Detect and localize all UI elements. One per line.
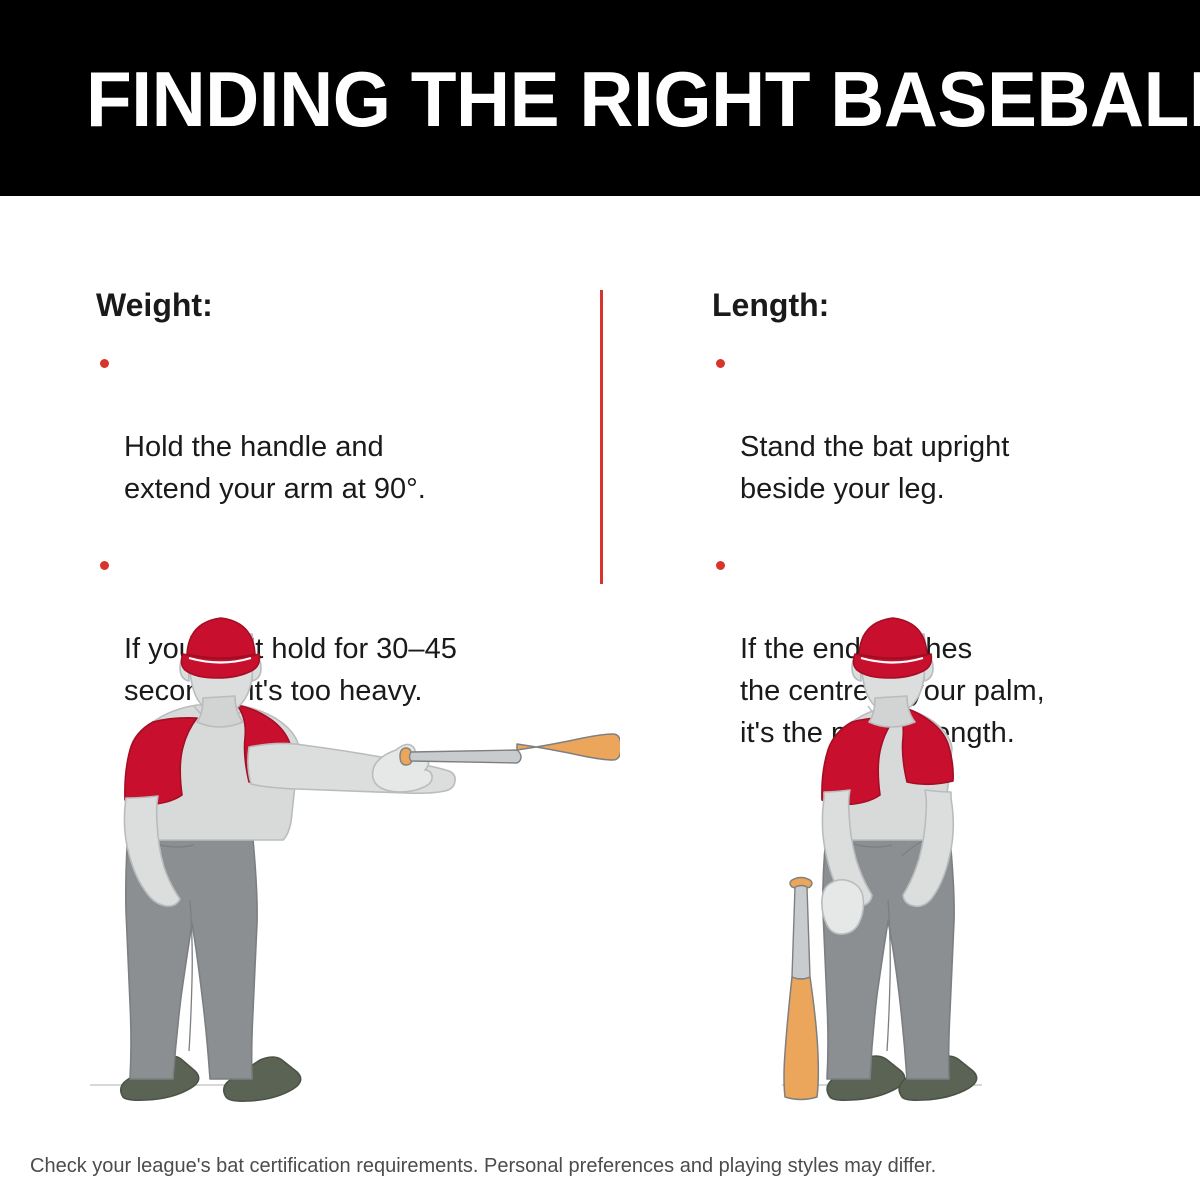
infographic-canvas: FINDING THE RIGHT BASEBALL BAT Weight: H… xyxy=(0,0,1200,1200)
bullet-text: Stand the bat upright beside your leg. xyxy=(740,431,1009,505)
bat-barrel xyxy=(784,977,818,1100)
bullet-dot-icon xyxy=(100,561,109,570)
hand-palm xyxy=(822,880,864,934)
bullet-text: Hold the handle and extend your arm at 9… xyxy=(124,431,426,505)
bat-handle xyxy=(410,750,522,763)
illustration-stage xyxy=(0,600,1200,1120)
weight-test-figure xyxy=(90,600,620,1120)
cap-crown xyxy=(859,618,927,658)
bat-handle xyxy=(792,886,810,980)
bullet-dot-icon xyxy=(716,359,725,368)
list-item: Stand the bat upright beside your leg. xyxy=(712,342,1142,510)
weight-heading: Weight: xyxy=(96,286,566,324)
bat-barrel xyxy=(517,734,620,760)
length-test-figure xyxy=(752,600,1012,1120)
footer-disclaimer: Check your league's bat certification re… xyxy=(30,1152,936,1180)
cap-crown xyxy=(187,618,255,658)
bullet-dot-icon xyxy=(716,561,725,570)
bullet-dot-icon xyxy=(100,359,109,368)
page-title: FINDING THE RIGHT BASEBALL BAT xyxy=(86,56,1200,142)
header-band: FINDING THE RIGHT BASEBALL BAT xyxy=(0,0,1200,196)
length-heading: Length: xyxy=(712,286,1142,324)
list-item: Hold the handle and extend your arm at 9… xyxy=(96,342,566,510)
column-divider xyxy=(600,290,603,584)
